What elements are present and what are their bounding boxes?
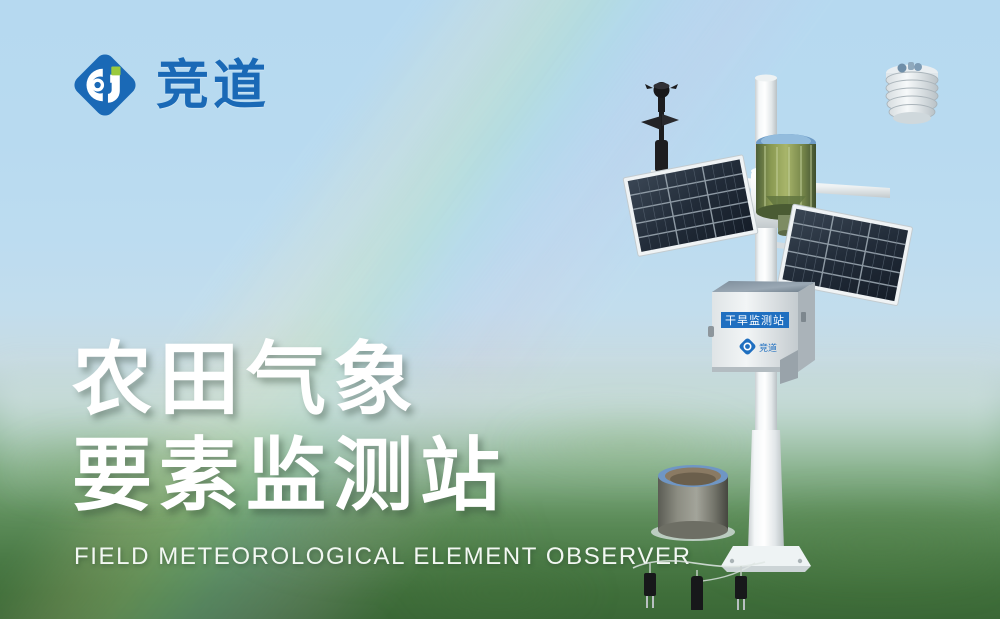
page-subtitle: FIELD METEOROLOGICAL ELEMENT OBSERVER [74, 543, 692, 571]
headline-line-1: 农田气象 [72, 332, 507, 428]
pole-base [721, 546, 811, 572]
weather-station-illustration: 干旱监测站 竞道 [615, 10, 1000, 610]
headline-line-2: 要素监测站 [72, 428, 507, 524]
cabinet-label-text: 干旱监测站 [725, 313, 785, 327]
brand-name: 竞道 [156, 59, 270, 112]
page-title: 农田气象 要素监测站 [72, 332, 507, 524]
soil-probe-1 [644, 562, 656, 608]
control-cabinet: 干旱监测站 竞道 [708, 281, 815, 384]
rain-gauge-icon [651, 465, 735, 541]
radiation-shield-icon [886, 62, 938, 124]
brand-logo-block: 竞道 [68, 48, 270, 122]
svg-text:竞道: 竞道 [759, 342, 777, 354]
soil-probe-2 [691, 570, 703, 610]
jingdao-diamond-logo-icon [68, 48, 142, 122]
product-banner: 竞道 农田气象 要素监测站 FIELD METEOROLOGICAL ELEME… [0, 0, 1000, 619]
soil-sensor-group [633, 561, 765, 610]
solar-panel-left [623, 155, 758, 257]
wind-sensor-icon [641, 82, 679, 178]
